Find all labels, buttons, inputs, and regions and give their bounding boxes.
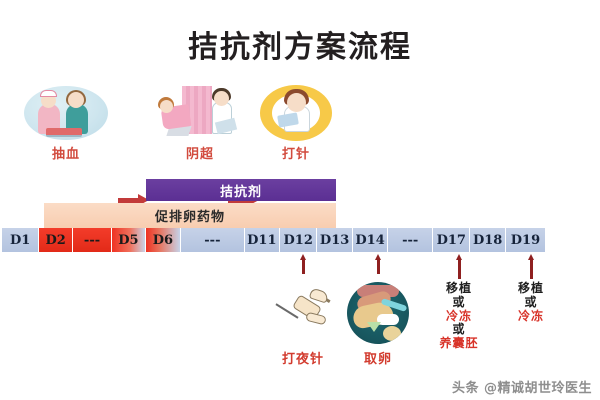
blood-draw-icon — [18, 84, 114, 142]
annotation-egg-retrieval: 取卵 — [343, 348, 413, 367]
marker-d17-icon — [456, 254, 463, 278]
timeline-cell-gap-5: --- — [181, 228, 244, 252]
marker-d12-icon — [300, 254, 307, 274]
syringe-icon — [268, 288, 334, 334]
step-blood-draw: 抽血 — [18, 84, 114, 162]
stimulation-bar-label: 促排卵药物 — [155, 206, 225, 225]
timeline-cell-gap-10: --- — [388, 228, 433, 252]
day-timeline: D1D2---D5D6---D11D12D13D14---D17D18D19 — [2, 228, 545, 252]
option-line: 或 — [506, 296, 556, 310]
ultrasound-patient-head-shape — [160, 100, 173, 113]
option-line: 或 — [434, 296, 484, 310]
option-line: 移植 — [434, 282, 484, 296]
step-label-blood-draw: 抽血 — [18, 143, 114, 162]
marker-d19-icon — [528, 254, 535, 278]
timeline-cell-d17: D17 — [433, 228, 470, 252]
timeline-cell-d11: D11 — [245, 228, 280, 252]
antagonist-bar-label: 拮抗剂 — [220, 181, 262, 200]
antagonist-medication-bar: 拮抗剂 — [146, 179, 336, 201]
timeline-cell-d14: D14 — [353, 228, 388, 252]
annotation-trigger-shot: 打夜针 — [268, 348, 338, 367]
option-line: 养囊胚 — [434, 337, 484, 351]
step-ultrasound: 阴超 — [152, 84, 248, 162]
step-injection: 打针 — [248, 84, 344, 162]
ultrasound-icon — [152, 84, 248, 142]
timeline-cell-d19: D19 — [506, 228, 545, 252]
annotation-day19-options: 移植或冷冻 — [506, 282, 556, 323]
step-label-ultrasound: 阴超 — [152, 143, 248, 162]
egg-retrieval-icon — [347, 282, 409, 344]
timeline-cell-d12: D12 — [280, 228, 317, 252]
timeline-cell-d2: D2 — [39, 228, 73, 252]
timeline-cell-gap-2: --- — [73, 228, 112, 252]
injection-icon — [248, 84, 344, 142]
nurse-cap-shape — [40, 90, 57, 97]
marker-d14-icon — [375, 254, 382, 274]
page-title: 拮抗剂方案流程 — [0, 22, 600, 66]
timeline-cell-d1: D1 — [2, 228, 39, 252]
injection-nurse-head-shape — [287, 93, 306, 112]
doctor-head-shape — [214, 91, 229, 106]
blood-tube-tray-shape — [46, 128, 82, 137]
patient-head-shape — [68, 92, 84, 108]
watermark: 头条 @精诚胡世玲医生 — [452, 377, 592, 396]
option-line: 移植 — [506, 282, 556, 296]
timeline-cell-d13: D13 — [317, 228, 352, 252]
annotation-trigger-label: 打夜针 — [268, 348, 338, 367]
stimulation-medication-bar: 促排卵药物 — [44, 203, 336, 228]
timeline-cell-d18: D18 — [470, 228, 505, 252]
annotation-retrieval-label: 取卵 — [343, 348, 413, 367]
timeline-cell-d5: D5 — [112, 228, 146, 252]
timeline-cell-d6: D6 — [146, 228, 181, 252]
option-line: 冷冻 — [506, 310, 556, 324]
step-label-injection: 打针 — [248, 143, 344, 162]
infographic-root: 拮抗剂方案流程 抽血 — [0, 0, 600, 400]
annotation-day17-options: 移植或冷冻或养囊胚 — [434, 282, 484, 351]
process-illustration-row: 抽血 阴超 — [0, 84, 600, 164]
